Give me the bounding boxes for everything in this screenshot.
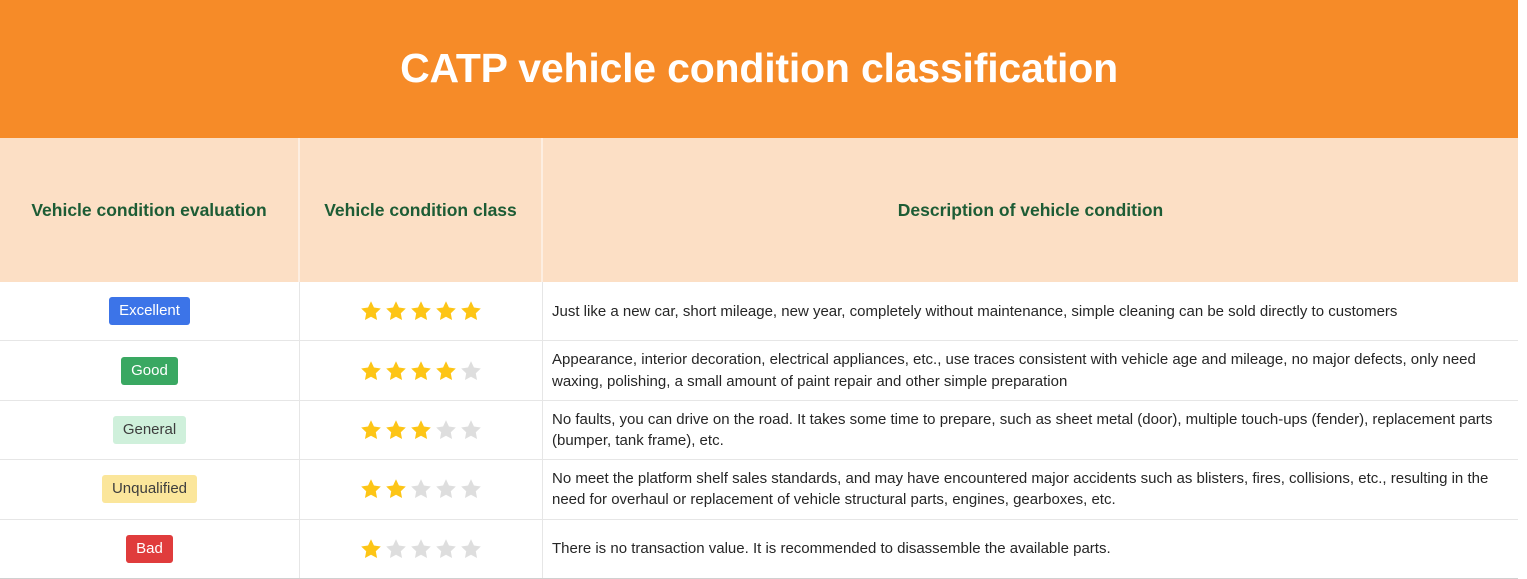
cell-class xyxy=(300,401,543,459)
star-icon xyxy=(459,418,483,442)
star-icon xyxy=(434,418,458,442)
cell-description: Appearance, interior decoration, electri… xyxy=(543,341,1518,399)
cell-description: Just like a new car, short mileage, new … xyxy=(543,282,1518,340)
cell-evaluation: Good xyxy=(0,341,300,399)
description-text: No meet the platform shelf sales standar… xyxy=(552,468,1502,511)
cell-description: There is no transaction value. It is rec… xyxy=(543,520,1518,578)
table-header-row: Vehicle condition evaluation Vehicle con… xyxy=(0,138,1518,282)
star-rating xyxy=(359,299,483,323)
table-row: Excellent Just like a new car, short mil… xyxy=(0,282,1518,341)
cell-class xyxy=(300,341,543,399)
column-header-description: Description of vehicle condition xyxy=(543,138,1518,282)
star-rating xyxy=(359,359,483,383)
cell-description: No faults, you can drive on the road. It… xyxy=(543,401,1518,459)
table-row: Bad There is no transaction value. It is… xyxy=(0,520,1518,579)
star-icon xyxy=(434,299,458,323)
star-icon xyxy=(384,359,408,383)
status-badge[interactable]: Unqualified xyxy=(102,475,197,503)
page-title: CATP vehicle condition classification xyxy=(400,46,1118,91)
star-icon xyxy=(459,537,483,561)
star-icon xyxy=(359,299,383,323)
cell-evaluation: Unqualified xyxy=(0,460,300,518)
status-badge[interactable]: Excellent xyxy=(109,297,190,325)
star-icon xyxy=(434,359,458,383)
column-header-class: Vehicle condition class xyxy=(300,138,543,282)
star-icon xyxy=(409,418,433,442)
star-icon xyxy=(434,477,458,501)
status-badge[interactable]: Bad xyxy=(126,535,173,563)
column-header-class-label: Vehicle condition class xyxy=(324,200,517,221)
star-icon xyxy=(359,477,383,501)
cell-evaluation: Bad xyxy=(0,520,300,578)
cell-description: No meet the platform shelf sales standar… xyxy=(543,460,1518,518)
star-rating xyxy=(359,418,483,442)
vehicle-condition-classification-page: CATP vehicle condition classification Ve… xyxy=(0,0,1527,579)
cell-class xyxy=(300,520,543,578)
star-rating xyxy=(359,477,483,501)
description-text: Just like a new car, short mileage, new … xyxy=(552,301,1397,322)
column-header-evaluation: Vehicle condition evaluation xyxy=(0,138,300,282)
description-text: There is no transaction value. It is rec… xyxy=(552,538,1111,559)
star-icon xyxy=(384,477,408,501)
star-icon xyxy=(384,299,408,323)
star-icon xyxy=(409,359,433,383)
cell-evaluation: General xyxy=(0,401,300,459)
cell-class xyxy=(300,460,543,518)
star-icon xyxy=(359,537,383,561)
star-icon xyxy=(459,477,483,501)
column-header-description-label: Description of vehicle condition xyxy=(898,200,1163,221)
table-row: General No faults, you can drive on the … xyxy=(0,401,1518,460)
table-row: Good Appearance, interior decoration, el… xyxy=(0,341,1518,400)
star-icon xyxy=(359,359,383,383)
star-icon xyxy=(434,537,458,561)
star-icon xyxy=(459,299,483,323)
star-icon xyxy=(409,299,433,323)
cell-class xyxy=(300,282,543,340)
description-text: Appearance, interior decoration, electri… xyxy=(552,349,1502,392)
star-rating xyxy=(359,537,483,561)
table-row: Unqualified No meet the platform shelf s… xyxy=(0,460,1518,519)
star-icon xyxy=(359,418,383,442)
star-icon xyxy=(384,537,408,561)
star-icon xyxy=(384,418,408,442)
cell-evaluation: Excellent xyxy=(0,282,300,340)
star-icon xyxy=(409,537,433,561)
status-badge[interactable]: Good xyxy=(121,357,178,385)
description-text: No faults, you can drive on the road. It… xyxy=(552,409,1502,452)
vehicle-condition-table: Vehicle condition evaluation Vehicle con… xyxy=(0,138,1518,579)
title-banner: CATP vehicle condition classification xyxy=(0,0,1518,138)
status-badge[interactable]: General xyxy=(113,416,186,444)
column-header-evaluation-label: Vehicle condition evaluation xyxy=(31,200,266,221)
star-icon xyxy=(409,477,433,501)
star-icon xyxy=(459,359,483,383)
